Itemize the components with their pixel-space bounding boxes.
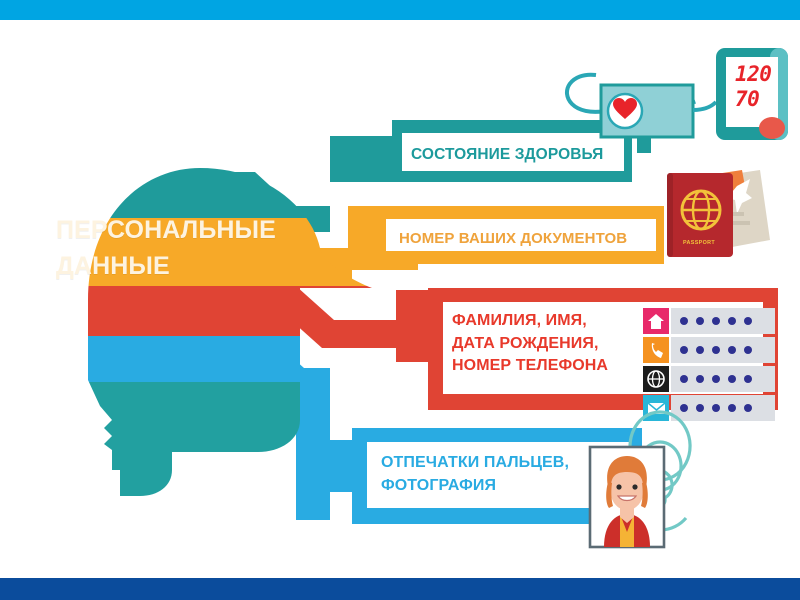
callout-label-documents: НОМЕР ВАШИХ ДОКУМЕНТОВ (399, 230, 627, 248)
page-title-line2: ДАННЫЕ (56, 252, 170, 282)
bp-diastolic-value: 70 (735, 87, 759, 111)
infographic-canvas: ПЕРСОНАЛЬНЫЕ ДАННЫЕ СОСТОЯНИЕ ЗДОРОВЬЯ Н… (0, 0, 800, 600)
bp-systolic-value: 120 (735, 62, 771, 86)
infographic-artwork (0, 0, 800, 600)
callout-label-biometrics: ОТПЕЧАТКИ ПАЛЬЦЕВ, ФОТОГРАФИЯ (381, 452, 569, 497)
page-title-line1: ПЕРСОНАЛЬНЫЕ (56, 216, 276, 246)
phone-icon (643, 337, 669, 363)
callout-label-identity: ФАМИЛИЯ, ИМЯ, ДАТА РОЖДЕНИЯ, НОМЕР ТЕЛЕФ… (452, 310, 608, 378)
passport-label: PASSPORT (676, 240, 722, 246)
bottom-accent-bar (0, 578, 800, 600)
callout-label-health: СОСТОЯНИЕ ЗДОРОВЬЯ (411, 146, 603, 164)
portrait-photo-icon (590, 447, 664, 547)
